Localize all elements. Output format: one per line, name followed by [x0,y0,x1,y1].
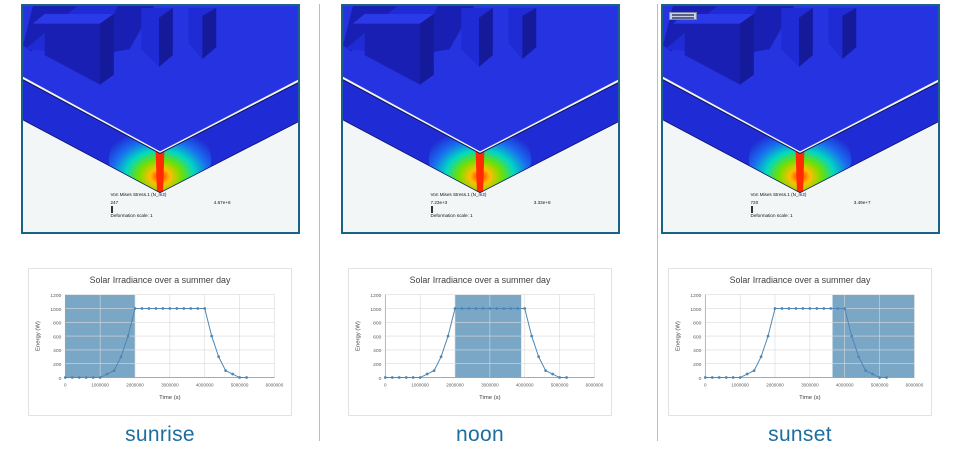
stress-colorbar-legend: Von Mises Stress.1 (N_m2) 247 4.67e+6 De… [111,192,231,220]
x-tick-label: 6000000 [906,382,924,387]
data-point [565,376,568,379]
data-point [461,307,464,310]
data-point [871,373,874,376]
data-point [551,373,554,376]
x-tick-label: 2000000 [446,382,464,387]
column-caption-sunrise: sunrise [125,423,195,447]
x-tick-label: 0 [704,382,707,387]
data-point [829,307,832,310]
legend-max-value: 3.49e+7 [854,200,871,207]
x-tick-label: 4000000 [836,382,854,387]
y-tick-label: 1000 [50,307,61,313]
data-point [196,307,199,310]
x-axis-label: Time (s) [479,395,500,401]
data-point [878,376,881,379]
y-tick-label: 200 [373,362,381,368]
data-point [544,369,547,372]
x-tick-label: 2000000 [126,382,144,387]
data-point [482,307,485,310]
data-point [85,376,88,379]
chart-title: Solar Irradiance over a summer day [410,275,551,285]
data-point [71,376,74,379]
column-caption-sunset: sunset [768,423,832,447]
y-tick-label: 0 [59,376,62,382]
y-axis-label: Energy (W) [36,321,42,351]
y-tick-label: 1200 [690,293,701,299]
data-point [857,355,860,358]
data-point [704,376,707,379]
data-point [419,376,422,379]
data-point [753,369,756,372]
slide-root: Von Mises Stress.1 (N_m2) 247 4.67e+6 De… [0,0,960,459]
data-point [495,307,498,310]
data-point [836,307,839,310]
data-point [168,307,171,310]
data-point [210,335,213,338]
y-tick-label: 800 [53,321,61,327]
data-point [162,307,165,310]
data-point [774,307,777,310]
data-point [231,373,234,376]
x-tick-label: 5000000 [231,382,249,387]
x-axis-label: Time (s) [799,395,820,401]
data-point [822,307,825,310]
data-point [134,307,137,310]
data-point [760,355,763,358]
y-tick-label: 400 [373,348,381,354]
data-point [106,373,109,376]
y-tick-label: 800 [693,321,701,327]
colorbar-gradient [431,206,433,213]
column-noon: Von Mises Stress.1 (N_m2) 7.23e+3 3.33e+… [320,0,640,459]
solar-irradiance-chart: Solar Irradiance over a summer day020040… [29,269,291,415]
data-point [537,355,540,358]
y-tick-label: 200 [53,362,61,368]
data-point [502,307,505,310]
data-point [558,376,561,379]
data-point [238,376,241,379]
y-tick-label: 400 [53,348,61,354]
y-tick-label: 600 [693,334,701,340]
x-tick-label: 3000000 [801,382,819,387]
data-point [398,376,401,379]
solar-irradiance-chart: Solar Irradiance over a summer day020040… [349,269,611,415]
column-caption-noon: noon [456,423,504,447]
data-point [175,307,178,310]
data-point [788,307,791,310]
y-tick-label: 1200 [50,293,61,299]
y-axis-label: Energy (W) [356,321,362,351]
data-point [120,355,123,358]
y-tick-label: 800 [373,321,381,327]
x-tick-label: 6000000 [266,382,284,387]
data-point [92,376,95,379]
y-axis-label: Energy (W) [676,321,682,351]
data-point [885,376,888,379]
y-tick-label: 1000 [370,307,381,313]
x-tick-label: 0 [384,382,387,387]
data-point [405,376,408,379]
colorbar-gradient [751,206,753,213]
data-point [384,376,387,379]
data-point [64,376,67,379]
stress-colorbar-legend: Von Mises Stress.1 (N_m2) 7.23e+3 3.33e+… [431,192,551,220]
colorbar-gradient [111,206,113,213]
data-point [113,369,116,372]
data-point [155,307,158,310]
data-point [516,307,519,310]
data-point [864,369,867,372]
y-tick-label: 1000 [690,307,701,313]
column-sunset: Von Mises Stress.1 (N_m2) 720 3.49e+7 De… [640,0,960,459]
x-tick-label: 3000000 [161,382,179,387]
data-point [141,307,144,310]
data-point [224,369,227,372]
legend-max-value: 4.67e+6 [214,200,231,207]
data-point [509,307,512,310]
x-tick-label: 1000000 [731,382,749,387]
data-point [412,376,415,379]
data-point [488,307,491,310]
legend-title: Von Mises Stress.1 (N_m2) [111,192,231,199]
solar-irradiance-chart: Solar Irradiance over a summer day020040… [669,269,931,415]
solar-irradiance-chart-card[interactable]: Solar Irradiance over a summer day020040… [668,268,932,416]
data-point [815,307,818,310]
data-point [245,376,248,379]
stress-colorbar-legend: Von Mises Stress.1 (N_m2) 720 3.49e+7 De… [751,192,871,220]
data-point [454,307,457,310]
data-point [843,307,846,310]
deformation-scale-label: Deformation scale: 1 [751,213,871,220]
x-tick-label: 1000000 [91,382,109,387]
data-point [475,307,478,310]
y-tick-label: 0 [379,376,382,382]
data-point [217,355,220,358]
data-point [440,355,443,358]
data-point [746,373,749,376]
x-tick-label: 5000000 [871,382,889,387]
data-point [802,307,805,310]
legend-max-value: 3.33e+8 [534,200,551,207]
y-tick-label: 1200 [370,293,381,299]
data-point [189,307,192,310]
x-tick-label: 2000000 [766,382,784,387]
x-tick-label: 3000000 [481,382,499,387]
data-point [468,307,471,310]
y-tick-label: 600 [53,334,61,340]
data-point [850,335,853,338]
x-tick-label: 0 [64,382,67,387]
data-point [127,335,130,338]
data-point [795,307,798,310]
legend-title: Von Mises Stress.1 (N_m2) [751,192,871,199]
x-tick-label: 5000000 [551,382,569,387]
x-tick-label: 4000000 [196,382,214,387]
x-axis-label: Time (s) [159,395,180,401]
data-point [203,307,206,310]
data-point [725,376,728,379]
y-tick-label: 600 [373,334,381,340]
fem-render-panel[interactable]: Von Mises Stress.1 (N_m2) 247 4.67e+6 De… [21,4,300,234]
chart-title: Solar Irradiance over a summer day [90,275,231,285]
solar-irradiance-chart-card[interactable]: Solar Irradiance over a summer day020040… [348,268,612,416]
data-point [426,373,429,376]
data-point [447,335,450,338]
data-point [78,376,81,379]
y-tick-label: 0 [699,376,702,382]
data-point [808,307,811,310]
chart-title: Solar Irradiance over a summer day [730,275,871,285]
data-point [99,376,102,379]
data-point [718,376,721,379]
legend-min-value: 7.23e+3 [431,200,448,207]
deformation-scale-label: Deformation scale: 1 [431,213,551,220]
data-point [523,307,526,310]
data-point [767,335,770,338]
data-point [148,307,151,310]
legend-title: Von Mises Stress.1 (N_m2) [431,192,551,199]
data-point [391,376,394,379]
deformation-scale-label: Deformation scale: 1 [111,213,231,220]
solar-irradiance-chart-card[interactable]: Solar Irradiance over a summer day020040… [28,268,292,416]
fem-render-panel[interactable]: Von Mises Stress.1 (N_m2) 720 3.49e+7 De… [661,4,940,234]
data-point [732,376,735,379]
data-point [182,307,185,310]
data-point [530,335,533,338]
y-tick-label: 400 [693,348,701,354]
x-tick-label: 6000000 [586,382,604,387]
data-point [739,376,742,379]
column-sunrise: Von Mises Stress.1 (N_m2) 247 4.67e+6 De… [0,0,320,459]
fem-render-panel[interactable]: Von Mises Stress.1 (N_m2) 7.23e+3 3.33e+… [341,4,620,234]
y-tick-label: 200 [693,362,701,368]
x-tick-label: 4000000 [516,382,534,387]
data-point [433,369,436,372]
viewport-toolbar-widget[interactable] [669,12,697,20]
x-tick-label: 1000000 [411,382,429,387]
data-point [781,307,784,310]
data-point [711,376,714,379]
